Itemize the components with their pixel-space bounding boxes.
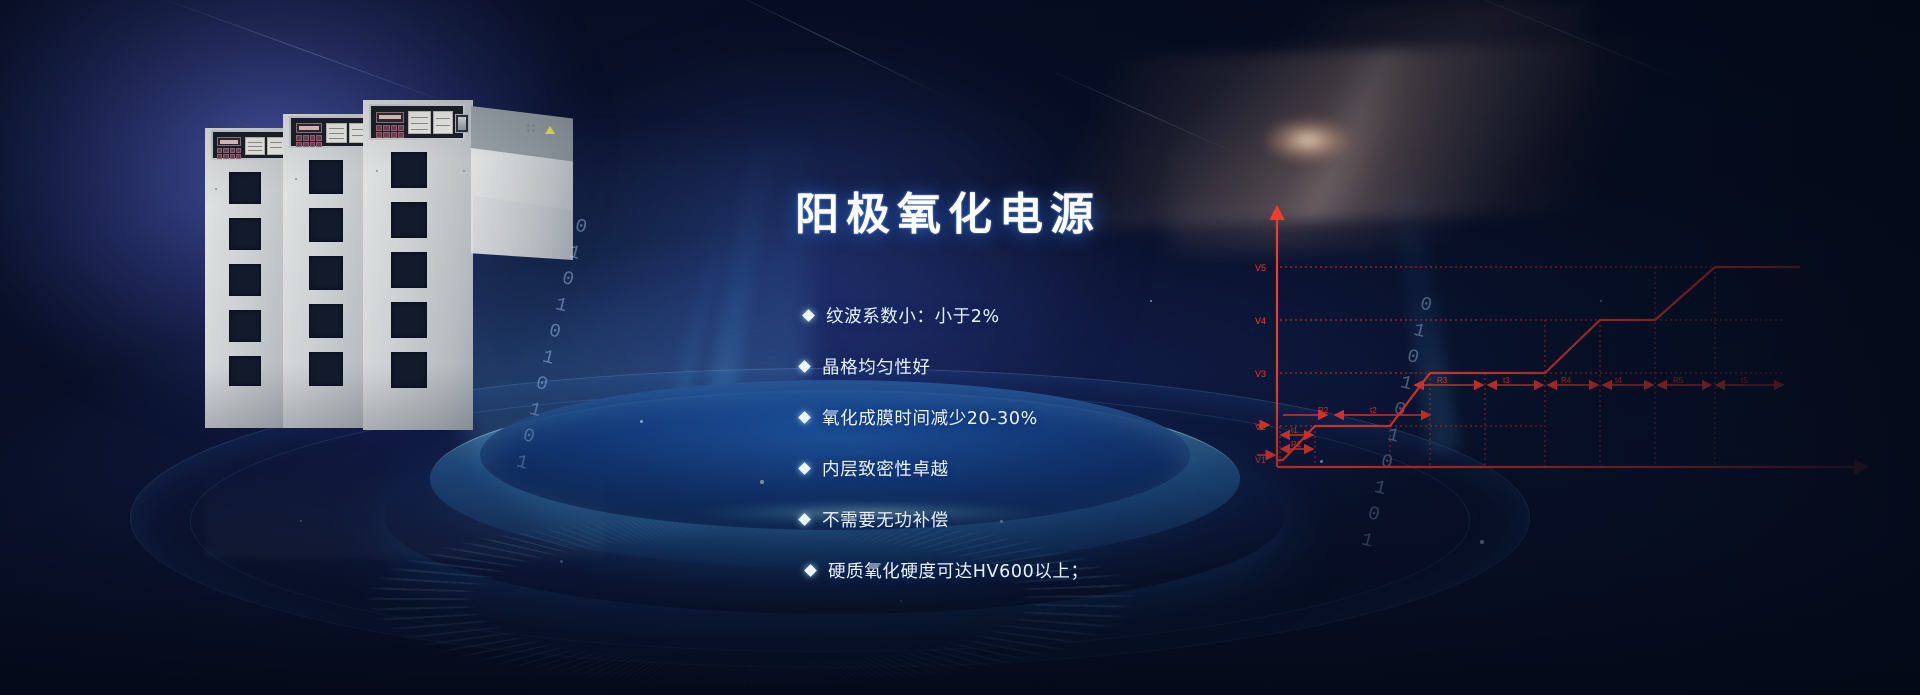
list-item: 不需要无功补偿 [800, 494, 1420, 545]
list-item-label: 氧化成膜时间减少20-30% [822, 405, 1038, 430]
list-item: 晶格均匀性好 [800, 341, 1420, 392]
banner-stage: 0101010101 0101010101 [0, 0, 1920, 695]
list-item: 氧化成膜时间减少20-30% [800, 392, 1420, 443]
feature-list: 纹波系数小：小于2% 晶格均匀性好 氧化成膜时间减少20-30% 内层致密性卓越… [800, 290, 1420, 596]
list-item-label: 内层致密性卓越 [822, 456, 949, 481]
page-title: 阳极氧化电源 [795, 178, 1101, 242]
list-item-label: 晶格均匀性好 [822, 354, 931, 379]
diamond-bullet-icon [798, 360, 811, 373]
diamond-bullet-icon [798, 513, 811, 526]
list-item: 硬质氧化硬度可达HV600以上； [806, 545, 1420, 596]
diamond-bullet-icon [804, 564, 817, 577]
list-item: 纹波系数小：小于2% [804, 290, 1420, 341]
diamond-bullet-icon [798, 462, 811, 475]
diamond-bullet-icon [802, 309, 815, 322]
list-item-label: 不需要无功补偿 [822, 507, 949, 532]
diamond-bullet-icon [798, 411, 811, 424]
list-item-label: 硬质氧化硬度可达HV600以上； [828, 558, 1089, 583]
list-item-label: 纹波系数小：小于2% [826, 303, 1000, 328]
list-item: 内层致密性卓越 [800, 443, 1420, 494]
